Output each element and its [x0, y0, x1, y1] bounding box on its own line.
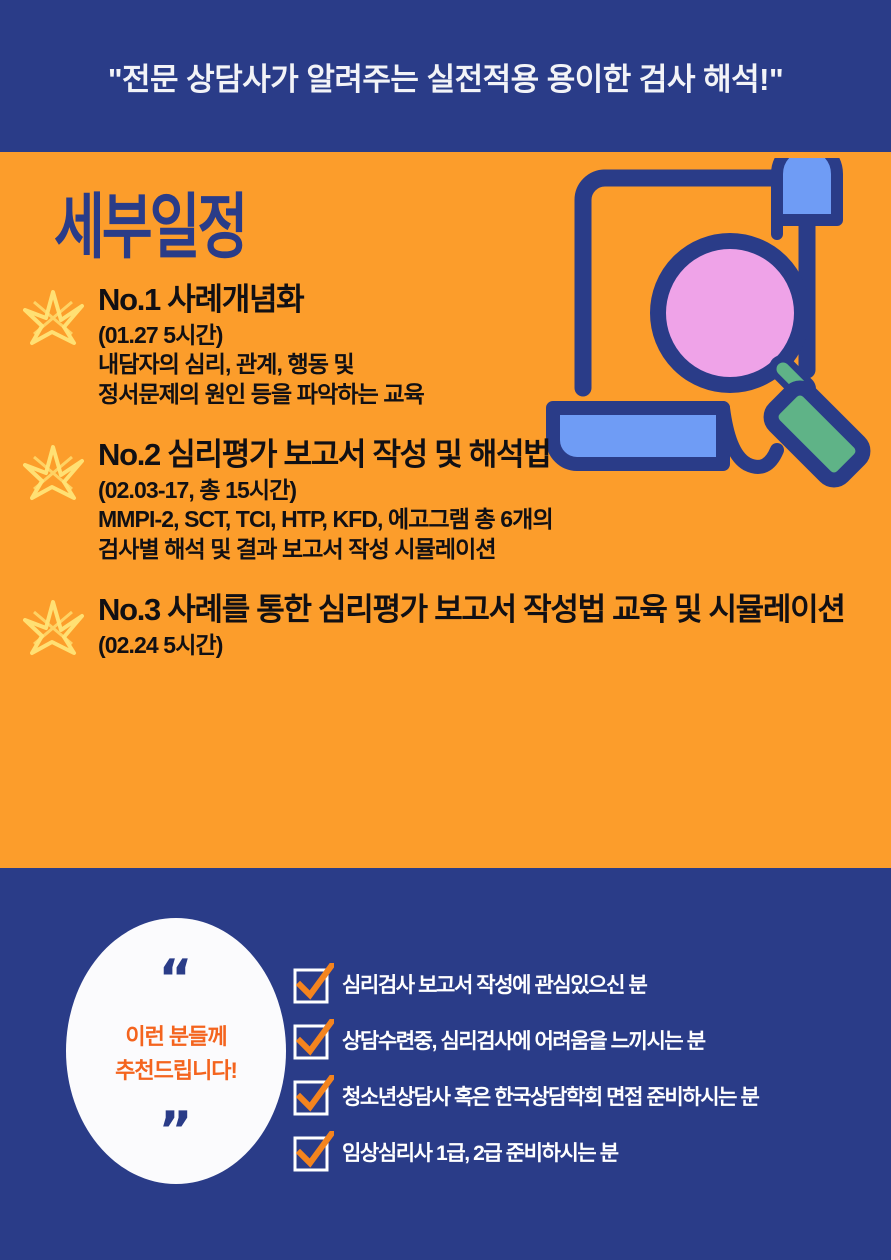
schedule-item: No.3 사례를 통한 심리평가 보고서 작성법 교육 및 시뮬레이션 (02.… — [0, 592, 891, 659]
schedule-item-heading: No.1 사례개념화 — [98, 282, 891, 319]
checklist-item: 상담수련중, 심리검사에 어려움을 느끼시는 분 — [292, 1012, 882, 1068]
checklist-item: 심리검사 보고서 작성에 관심있으신 분 — [292, 956, 882, 1012]
checkbox-checked-icon — [292, 1019, 334, 1061]
schedule-list: No.1 사례개념화 (01.27 5시간) 내담자의 심리, 관계, 행동 및… — [0, 282, 891, 687]
checklist-item-label: 심리검사 보고서 작성에 관심있으신 분 — [334, 969, 646, 999]
schedule-item: No.2 심리평가 보고서 작성 및 해석법 (02.03-17, 총 15시간… — [0, 437, 891, 564]
quote-close-icon: ” — [158, 1118, 193, 1144]
star-icon — [22, 596, 84, 658]
checklist-item-label: 청소년상담사 혹은 한국상담학회 면접 준비하시는 분 — [334, 1081, 758, 1111]
header-title: "전문 상담사가 알려주는 실전적용 용이한 검사 해석!" — [108, 54, 783, 99]
checklist-item: 임상심리사 1급, 2급 준비하시는 분 — [292, 1124, 882, 1180]
schedule-item-desc-line: 검사별 해석 및 결과 보고서 작성 시뮬레이션 — [98, 535, 891, 564]
star-icon — [22, 441, 84, 503]
checkbox-checked-icon — [292, 1131, 334, 1173]
schedule-item-when: (02.03-17, 총 15시간) — [98, 477, 891, 505]
schedule-item-heading: No.2 심리평가 보고서 작성 및 해석법 — [98, 437, 891, 474]
checklist-item-label: 상담수련중, 심리검사에 어려움을 느끼시는 분 — [334, 1025, 705, 1055]
checkbox-checked-icon — [292, 1075, 334, 1117]
recommend-badge: “ 이런 분들께 추천드립니다! ” — [66, 918, 286, 1184]
schedule-panel: 세부일정 — [0, 152, 891, 868]
schedule-item-desc-line: MMPI-2, SCT, TCI, HTP, KFD, 에고그램 총 6개의 — [98, 505, 891, 534]
recommend-section: “ 이런 분들께 추천드립니다! ” 심리검사 보고서 작성에 관심있으신 분 — [0, 868, 891, 1260]
quote-open-icon: “ — [158, 966, 193, 992]
schedule-item-when: (01.27 5시간) — [98, 322, 891, 350]
star-icon — [22, 286, 84, 348]
recommend-badge-line: 추천드립니다! — [115, 1054, 237, 1088]
schedule-item: No.1 사례개념화 (01.27 5시간) 내담자의 심리, 관계, 행동 및… — [0, 282, 891, 409]
page-title: 세부일정 — [54, 170, 245, 272]
checklist-item: 청소년상담사 혹은 한국상담학회 면접 준비하시는 분 — [292, 1068, 882, 1124]
schedule-item-when: (02.24 5시간) — [98, 632, 891, 660]
schedule-item-desc-line: 내담자의 심리, 관계, 행동 및 — [98, 350, 891, 379]
header-band: "전문 상담사가 알려주는 실전적용 용이한 검사 해석!" — [0, 0, 891, 152]
recommend-badge-line: 이런 분들께 — [125, 1020, 226, 1054]
checkbox-checked-icon — [292, 963, 334, 1005]
schedule-item-desc-line: 정서문제의 원인 등을 파악하는 교육 — [98, 380, 891, 409]
schedule-item-heading: No.3 사례를 통한 심리평가 보고서 작성법 교육 및 시뮬레이션 — [98, 592, 888, 629]
recommend-checklist: 심리검사 보고서 작성에 관심있으신 분 상담수련중, 심리검사에 어려움을 느… — [292, 956, 882, 1180]
poster-root: "전문 상담사가 알려주는 실전적용 용이한 검사 해석!" 세부일정 — [0, 0, 891, 1260]
checklist-item-label: 임상심리사 1급, 2급 준비하시는 분 — [334, 1137, 618, 1167]
